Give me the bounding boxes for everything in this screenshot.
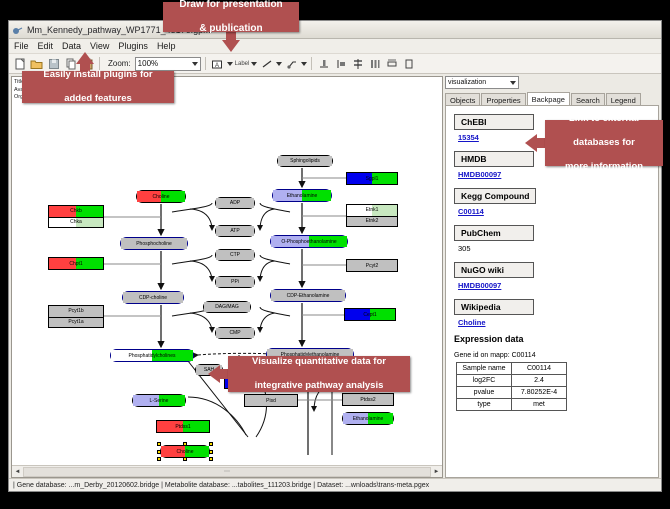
- datanode-icon: A: [210, 56, 225, 71]
- database-entry: NuGO wikiHMDB00097: [454, 260, 658, 290]
- line-icon: [259, 56, 274, 71]
- chevron-down-icon: [301, 62, 307, 66]
- line-tool[interactable]: [259, 56, 282, 71]
- chevron-down-icon: [227, 62, 233, 66]
- selection-handle[interactable]: [209, 457, 213, 461]
- expression-table: Sample nameC00114log2FC2.4pvalue7.80252E…: [456, 362, 567, 411]
- gene-label: Ptdss2: [360, 397, 375, 403]
- callout-visualize: Visualize quantitative data for integrat…: [228, 356, 410, 392]
- callout-visualize-line1: Visualize quantitative data for: [246, 356, 392, 368]
- gene-row[interactable]: Ptdss1: [157, 421, 209, 432]
- expression-data-title: Expression data: [454, 334, 658, 344]
- status-bar: | Gene database: ...m_Derby_20120602.bri…: [9, 478, 661, 491]
- gene-id-label: Gene id on mapp: C00114: [454, 352, 658, 359]
- svg-text:A: A: [215, 63, 219, 69]
- gene-row[interactable]: Pcyt1a: [49, 317, 103, 328]
- gene-label: Etnk2: [366, 218, 379, 224]
- database-link[interactable]: C00114: [458, 207, 658, 216]
- metabolite-node[interactable]: O-Phosphoethanolamine: [270, 235, 348, 248]
- gene-node[interactable]: Pisd: [244, 394, 298, 407]
- expr-value: 7.80252E-4: [512, 387, 567, 399]
- metabolite-node[interactable]: CDP-choline: [122, 291, 184, 304]
- label-tool-text: Label: [235, 61, 250, 67]
- callout-draw-arrow-icon: [222, 40, 240, 52]
- table-row: Sample nameC00114: [457, 363, 567, 375]
- selection-handle[interactable]: [209, 442, 213, 446]
- database-link[interactable]: HMDB00097: [458, 281, 658, 290]
- table-row: typemet: [457, 399, 567, 411]
- align-left-icon[interactable]: [333, 56, 348, 71]
- table-row: log2FC2.4: [457, 375, 567, 387]
- callout-link-line1: Link to external: [559, 113, 649, 125]
- chevron-down-icon: [276, 62, 282, 66]
- gene-node[interactable]: Pcyt2: [346, 259, 398, 272]
- gene-row[interactable]: Pcyt2: [347, 260, 397, 271]
- panel-tabs: Objects Properties Backpage Search Legen…: [445, 92, 659, 106]
- expr-value: met: [512, 399, 567, 411]
- visualization-select[interactable]: visualization: [445, 76, 519, 89]
- database-name: ChEBI: [454, 114, 534, 130]
- selection-handle[interactable]: [157, 450, 161, 454]
- callout-draw: Draw for presentation & publication: [163, 2, 299, 32]
- node-label: Sphingolipids: [290, 158, 320, 164]
- database-link[interactable]: Choline: [458, 318, 658, 327]
- database-name: PubChem: [454, 225, 534, 241]
- metabolite-node[interactable]: Phosphatidylcholines: [110, 349, 194, 362]
- database-entry: WikipediaCholine: [454, 297, 658, 327]
- node-label: Ethanolamine: [287, 193, 318, 199]
- gene-node[interactable]: ChkbChka: [48, 205, 104, 228]
- node-label: O-Phosphoethanolamine: [281, 239, 336, 245]
- node-label: ATP: [230, 228, 239, 234]
- status-text: | Gene database: ...m_Derby_20120602.bri…: [13, 482, 429, 489]
- selection-handle[interactable]: [183, 457, 187, 461]
- zoom-value: 100%: [138, 59, 158, 68]
- node-label: ADP: [230, 200, 240, 206]
- metabolite-node[interactable]: PPi: [215, 276, 255, 288]
- gene-node[interactable]: Sgpl1: [346, 172, 398, 185]
- gene-label: Pcyt1b: [68, 308, 83, 314]
- node-label: Choline: [153, 194, 170, 200]
- node-label: DAG/MAG: [215, 304, 239, 310]
- callout-link-line3: more information: [559, 161, 649, 173]
- gene-row[interactable]: Sgpl1: [347, 173, 397, 184]
- gene-label: Chka: [70, 219, 82, 225]
- new-file-icon[interactable]: [12, 56, 27, 71]
- align-top-icon[interactable]: [316, 56, 331, 71]
- node-label: PPi: [231, 279, 239, 285]
- tab-backpage[interactable]: Backpage: [527, 92, 570, 106]
- callout-visualize-arrow-icon: [208, 365, 220, 383]
- metabolite-node[interactable]: Ethanolamine: [342, 412, 394, 425]
- menu-plugins[interactable]: Plugins: [118, 41, 148, 51]
- callout-draw-line1: Draw for presentation: [173, 0, 288, 11]
- metabolite-node[interactable]: ATP: [215, 225, 255, 237]
- node-label: CDP-Ethanolamine: [287, 293, 330, 299]
- database-value: 305: [458, 244, 658, 253]
- metabolite-node[interactable]: CDP-Ethanolamine: [270, 289, 346, 302]
- distribute-icon[interactable]: [367, 56, 382, 71]
- callout-plugins-arrow-icon: [76, 52, 94, 64]
- selection-handle[interactable]: [157, 442, 161, 446]
- menu-file[interactable]: File: [14, 41, 29, 51]
- gene-label: Chpt1: [69, 261, 82, 267]
- metabolite-node[interactable]: Choline: [136, 190, 186, 203]
- callout-draw-line2: & publication: [173, 23, 288, 35]
- chevron-down-icon: [510, 81, 516, 85]
- gene-row[interactable]: Ptdss2: [343, 394, 393, 405]
- database-name: NuGO wiki: [454, 262, 534, 278]
- title-bar: Mm_Kennedy_pathway_WP1771_45176.gpml: [9, 21, 661, 39]
- toolbar-separator: [311, 57, 312, 70]
- pathway-canvas[interactable]: Title: Availa Organ: [11, 76, 443, 478]
- node-label: Choline: [177, 449, 194, 455]
- label-tool[interactable]: Label: [235, 61, 258, 67]
- gene-node[interactable]: Chpt1: [48, 257, 104, 270]
- node-label: L-Serine: [150, 398, 169, 404]
- node-label: Ethanolamine: [353, 416, 384, 422]
- toolbar-separator: [205, 57, 206, 70]
- gene-row[interactable]: Etnk2: [347, 216, 397, 227]
- gene-label: Pcyt2: [366, 263, 379, 269]
- screenshot-root: Mm_Kennedy_pathway_WP1771_45176.gpml Fil…: [0, 0, 670, 509]
- expr-value: 2.4: [512, 375, 567, 387]
- database-name: Kegg Compound: [454, 188, 536, 204]
- chevron-down-icon: [192, 62, 198, 66]
- node-label: Phosphatidylcholines: [129, 353, 176, 359]
- zoom-label: Zoom:: [108, 59, 131, 68]
- gene-row[interactable]: Chkb: [49, 206, 103, 217]
- chevron-down-icon: [251, 62, 257, 66]
- metabolite-node[interactable]: Sphingolipids: [277, 155, 333, 167]
- node-label: CDP-choline: [139, 295, 167, 301]
- menu-data[interactable]: Data: [62, 41, 81, 51]
- menu-edit[interactable]: Edit: [38, 41, 54, 51]
- gene-label: Etnk1: [366, 207, 379, 213]
- interaction-icon: [284, 56, 299, 71]
- gene-node[interactable]: Pcyt1bPcyt1a: [48, 305, 104, 328]
- gene-row[interactable]: Pisd: [245, 395, 297, 406]
- metabolite-node[interactable]: Ethanolamine: [272, 189, 332, 202]
- metabolite-node[interactable]: Phosphocholine: [120, 237, 188, 250]
- gene-label: Ptdss1: [175, 424, 190, 430]
- app-logo-icon: [12, 24, 23, 35]
- node-label: CTP: [230, 252, 240, 258]
- database-entry: Kegg CompoundC00114: [454, 186, 658, 216]
- database-entry: PubChem305: [454, 223, 658, 253]
- gene-row[interactable]: Cept1: [345, 309, 395, 320]
- metabolite-node[interactable]: CTP: [215, 249, 255, 261]
- gene-row[interactable]: Etnk1: [347, 205, 397, 216]
- expr-key: pvalue: [457, 387, 512, 399]
- menu-view[interactable]: View: [90, 41, 109, 51]
- expr-key: type: [457, 399, 512, 411]
- selection-handle[interactable]: [183, 442, 187, 446]
- common-height-icon[interactable]: [401, 56, 416, 71]
- callout-plugins: Easily install plugins for added feature…: [22, 71, 174, 103]
- gene-node[interactable]: Ptdss1: [156, 420, 210, 433]
- node-label: CMP: [229, 330, 240, 336]
- callout-link-line2: databases for: [559, 137, 649, 149]
- callout-link: Link to external databases for more info…: [545, 120, 663, 166]
- expr-key: log2FC: [457, 375, 512, 387]
- common-width-icon[interactable]: [384, 56, 399, 71]
- gene-label: Pcyt1a: [68, 319, 83, 325]
- gene-node[interactable]: Etnk1Etnk2: [346, 204, 398, 227]
- metabolite-node[interactable]: CMP: [215, 327, 255, 339]
- gene-label: Sgpl1: [366, 176, 379, 182]
- gene-row[interactable]: Chpt1: [49, 258, 103, 269]
- callout-link-arrow-icon: [525, 134, 537, 152]
- gene-node[interactable]: Ptdss2: [342, 393, 394, 406]
- node-label: Phosphocholine: [136, 241, 172, 247]
- metabolite-node[interactable]: L-Serine: [132, 394, 186, 407]
- gene-row[interactable]: Chka: [49, 217, 103, 228]
- metabolite-node[interactable]: ADP: [215, 197, 255, 209]
- menu-bar: File Edit Data View Plugins Help: [9, 39, 661, 54]
- interaction-tool[interactable]: [284, 56, 307, 71]
- selection-handle[interactable]: [157, 457, 161, 461]
- expr-key: Sample name: [457, 363, 512, 375]
- callout-visualize-line2: integrative pathway analysis: [246, 380, 392, 392]
- database-name: Wikipedia: [454, 299, 534, 315]
- metabolite-node[interactable]: DAG/MAG: [203, 301, 251, 313]
- datanode-tool[interactable]: A: [210, 56, 233, 71]
- gene-label: Pisd: [266, 398, 276, 404]
- database-name: HMDB: [454, 151, 534, 167]
- gene-row[interactable]: Pcyt1b: [49, 306, 103, 317]
- menu-help[interactable]: Help: [157, 41, 176, 51]
- stack-vertical-icon[interactable]: [350, 56, 365, 71]
- visualization-value: visualization: [448, 79, 486, 86]
- expr-value: C00114: [512, 363, 567, 375]
- gene-label: Chkb: [70, 208, 82, 214]
- selection-handle[interactable]: [209, 450, 213, 454]
- gene-label: Cept1: [363, 312, 376, 318]
- callout-plugins-line2: added features: [37, 93, 158, 105]
- callout-plugins-line1: Easily install plugins for: [37, 69, 158, 81]
- table-row: pvalue7.80252E-4: [457, 387, 567, 399]
- gene-node[interactable]: Cept1: [344, 308, 396, 321]
